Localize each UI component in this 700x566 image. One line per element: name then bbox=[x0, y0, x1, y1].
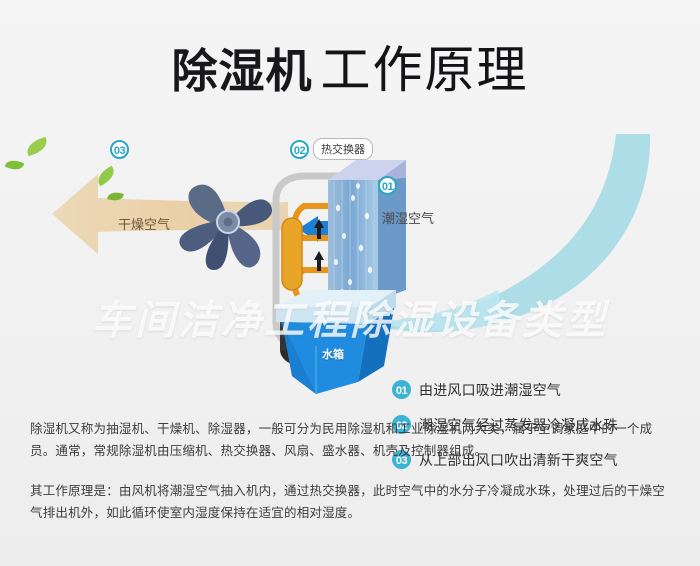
heat-exchanger-callout: 02热交换器 bbox=[290, 138, 373, 160]
step-badge: 01 bbox=[392, 380, 411, 399]
humid-air-badge: 01 bbox=[378, 176, 397, 195]
list-item: 01 由进风口吸进潮湿空气 bbox=[392, 372, 692, 407]
badge-01: 01 bbox=[378, 176, 397, 195]
dehumidifier-diagram: 03 干燥空气 02热交换器 01 潮湿空气 水箱 01 由进风口吸进潮湿空气 … bbox=[0, 118, 700, 403]
humid-air-label: 潮湿空气 bbox=[382, 208, 434, 228]
infographic-page: 除湿机工作原理 bbox=[0, 0, 700, 566]
description-block: 除湿机又称为抽湿机、干燥机、除湿器，一般可分为民用除湿机和工业除湿机两大类，属于… bbox=[30, 418, 676, 524]
heat-exchanger-label: 热交换器 bbox=[313, 138, 373, 160]
step-text: 由进风口吸进潮湿空气 bbox=[419, 380, 561, 400]
badge-02: 02 bbox=[290, 140, 309, 159]
badge-03: 03 bbox=[110, 140, 129, 159]
paragraph-2: 其工作原理是：由风机将潮湿空气抽入机内，通过热交换器，此时空气中的水分子冷凝成水… bbox=[30, 480, 676, 524]
page-title: 除湿机工作原理 bbox=[0, 30, 700, 102]
dry-air-label: 干燥空气 bbox=[118, 214, 170, 234]
title-secondary: 工作原理 bbox=[321, 42, 529, 98]
paragraph-1: 除湿机又称为抽湿机、干燥机、除湿器，一般可分为民用除湿机和工业除湿机两大类，属于… bbox=[30, 418, 676, 462]
title-primary: 除湿机 bbox=[172, 45, 313, 97]
water-tank-label: 水箱 bbox=[322, 346, 344, 362]
dry-air-badge: 03 bbox=[110, 140, 129, 159]
leaf-icon bbox=[25, 137, 50, 156]
leaf-icon bbox=[5, 157, 25, 173]
water-tank-icon bbox=[272, 288, 404, 398]
